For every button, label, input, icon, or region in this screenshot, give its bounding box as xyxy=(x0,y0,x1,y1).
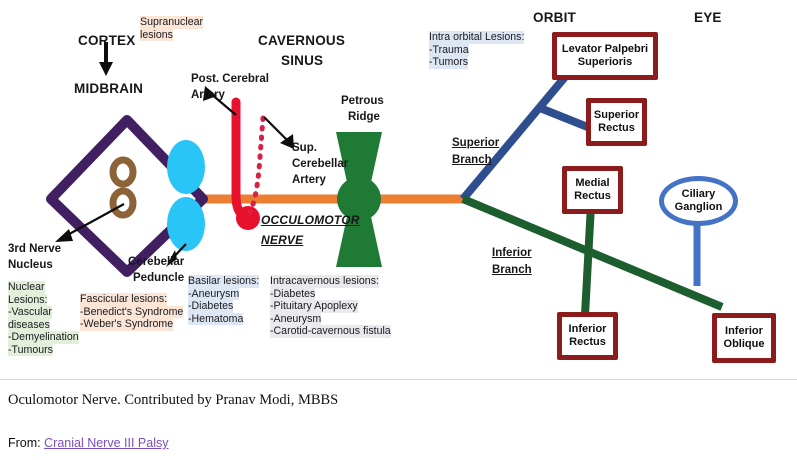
box-superior-rectus-line2: Rectus xyxy=(591,122,642,135)
header-midbrain: MIDBRAIN xyxy=(74,81,143,97)
lesion-line: -Carotid-cavernous fistula xyxy=(270,325,391,338)
label-petrous-ridge-line2: Ridge xyxy=(348,111,380,125)
caption-divider xyxy=(0,379,797,380)
label-third-nerve-nucleus-line1: 3rd Nerve xyxy=(8,243,61,257)
header-eye: EYE xyxy=(694,10,722,26)
lesion-line: -Aneurysm xyxy=(188,288,239,301)
from-prefix: From: xyxy=(8,436,41,450)
lesion-line: diseases xyxy=(8,319,50,332)
cerebellar-peduncle-lower xyxy=(167,197,205,251)
lesion-line: Intracavernous lesions: xyxy=(270,275,379,288)
lesion-line: Fascicular lesions: xyxy=(80,293,167,306)
label-superior-branch-line1: Superior xyxy=(452,137,499,151)
oval-ciliary-ganglion[interactable]: Ciliary Ganglion xyxy=(659,176,738,226)
lesion-line: -Tumours xyxy=(8,344,53,357)
label-sup-cerebellar-artery-line3: Artery xyxy=(292,174,326,188)
box-inferior-oblique[interactable]: Inferior Oblique xyxy=(712,313,776,363)
lesions-intra-orbital: Intra orbital Lesions:-Trauma-Tumors xyxy=(429,31,524,69)
ciliary-ganglion-line2: Ganglion xyxy=(675,201,723,213)
box-medial-rectus-line2: Rectus xyxy=(571,190,614,203)
lesion-line: -Weber's Syndrome xyxy=(80,318,173,331)
label-sup-cerebellar-artery-line1: Sup. xyxy=(292,142,317,156)
figure-caption: Oculomotor Nerve. Contributed by Pranav … xyxy=(8,392,338,409)
box-inferior-rectus-line1: Inferior xyxy=(566,323,610,336)
label-cerebellar-peduncle-line2: Peduncle xyxy=(133,272,184,286)
box-levator-line2: Superioris xyxy=(559,56,651,69)
label-post-cerebral-artery-line2: Artery xyxy=(191,89,225,103)
lesions-supranuclear: Supranuclearlesions xyxy=(140,16,203,41)
lesion-line: -Vascular xyxy=(8,306,52,319)
source-link[interactable]: Cranial Nerve III Palsy xyxy=(44,436,168,450)
lesion-line: -Diabetes xyxy=(270,288,315,301)
sup-cerebellar-artery-arrow xyxy=(264,117,294,149)
box-medial-rectus[interactable]: Medial Rectus xyxy=(562,166,623,214)
label-superior-branch-line2: Branch xyxy=(452,154,492,168)
header-cortex: CORTEX xyxy=(78,33,135,49)
header-cavernous-sinus-line2: SINUS xyxy=(281,53,323,69)
lesion-line: Basilar lesions: xyxy=(188,275,259,288)
box-inferior-rectus-line2: Rectus xyxy=(566,336,610,349)
lesion-line: -Pituitary Apoplexy xyxy=(270,300,358,313)
box-inferior-oblique-line1: Inferior xyxy=(721,325,768,338)
box-medial-rectus-line1: Medial xyxy=(571,177,614,190)
lesions-nuclear: NuclearLesions:-Vasculardiseases-Demyeli… xyxy=(8,281,79,356)
box-superior-rectus-line1: Superior xyxy=(591,109,642,122)
label-sup-cerebellar-artery-line2: Cerebellar xyxy=(292,158,348,172)
lesion-line: -Hematoma xyxy=(188,313,243,326)
lesion-line: lesions xyxy=(140,29,173,42)
lesion-line: -Aneurysm xyxy=(270,313,321,326)
label-inferior-branch-line2: Branch xyxy=(492,264,532,278)
label-occulomotor-nerve-line1: OCCULOMOTOR xyxy=(261,213,360,227)
lesion-line: Supranuclear xyxy=(140,16,203,29)
lesion-line: -Demyelination xyxy=(8,331,79,344)
lesions-intracavernous: Intracavernous lesions:-Diabetes-Pituita… xyxy=(270,275,391,338)
header-orbit: ORBIT xyxy=(533,10,576,26)
box-inferior-oblique-line2: Oblique xyxy=(721,338,768,351)
box-inferior-rectus[interactable]: Inferior Rectus xyxy=(557,312,618,360)
lesion-line: -Trauma xyxy=(429,44,469,57)
lesion-line: Intra orbital Lesions: xyxy=(429,31,524,44)
lesions-basilar: Basilar lesions:-Aneurysm-Diabetes-Hemat… xyxy=(188,275,259,325)
ciliary-ganglion-line1: Ciliary xyxy=(682,188,716,200)
lesion-line: -Benedict's Syndrome xyxy=(80,306,183,319)
label-inferior-branch-line1: Inferior xyxy=(492,247,532,261)
header-cavernous-sinus-line1: CAVERNOUS xyxy=(258,33,345,49)
box-levator-line1: Levator Palpebri xyxy=(559,43,651,56)
lesion-line: -Diabetes xyxy=(188,300,233,313)
lesions-fascicular: Fascicular lesions:-Benedict's Syndrome-… xyxy=(80,293,183,331)
label-petrous-ridge-line1: Petrous xyxy=(341,95,384,109)
label-third-nerve-nucleus-line2: Nucleus xyxy=(8,259,53,273)
petrous-ridge xyxy=(336,132,382,267)
box-levator-palpebri-superioris[interactable]: Levator Palpebri Superioris xyxy=(552,32,658,80)
cerebellar-peduncle-upper xyxy=(167,140,205,194)
lesion-line: -Tumors xyxy=(429,56,468,69)
screenshot-page: CORTEX MIDBRAIN CAVERNOUS SINUS ORBIT EY… xyxy=(0,0,797,460)
lesion-line: Lesions: xyxy=(8,294,47,307)
lesion-line: Nuclear xyxy=(8,281,45,294)
box-superior-rectus[interactable]: Superior Rectus xyxy=(586,98,647,146)
label-cerebellar-peduncle-line1: Cerebellar xyxy=(128,256,184,270)
label-post-cerebral-artery-line1: Post. Cerebral xyxy=(191,73,269,87)
label-occulomotor-nerve-line2: NERVE xyxy=(261,233,303,247)
source-line: From: Cranial Nerve III Palsy xyxy=(8,436,168,450)
